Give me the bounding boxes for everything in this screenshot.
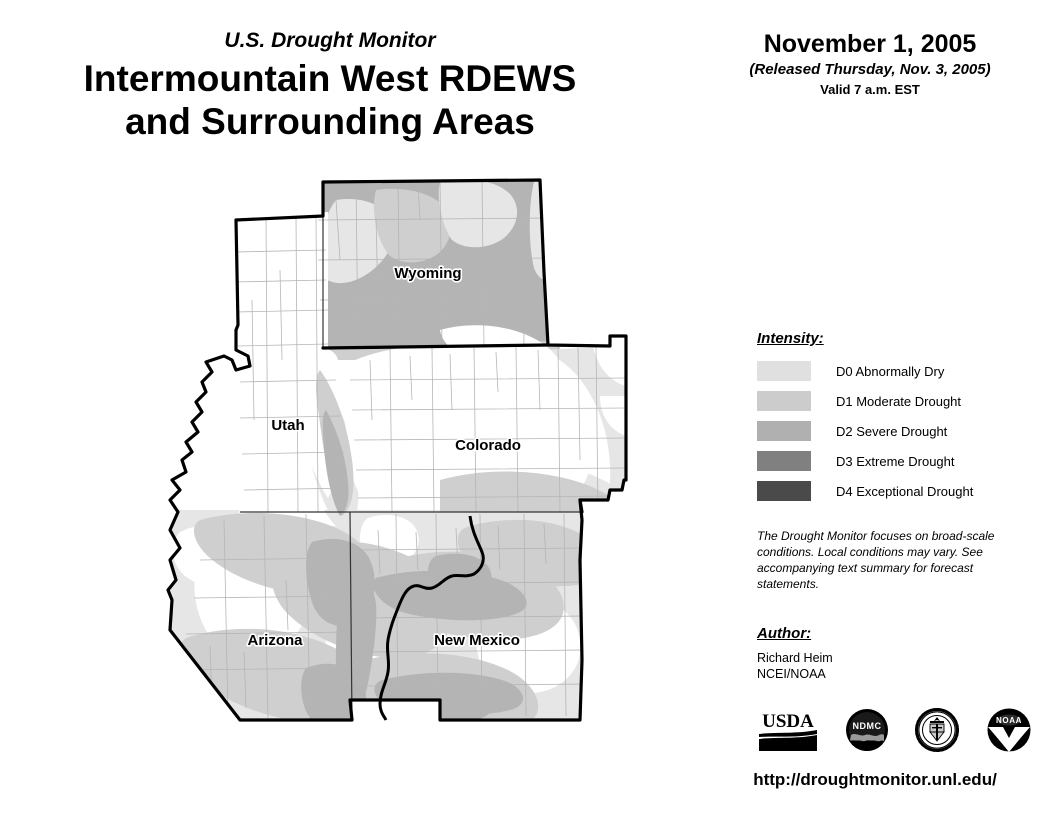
noaa-logo: NOAA	[986, 707, 1032, 758]
legend-item-d3: D3 Extreme Drought	[757, 446, 1037, 476]
page-title: Intermountain West RDEWS and Surrounding…	[0, 57, 660, 143]
legend-label-d4: D4 Exceptional Drought	[836, 484, 973, 499]
valid-time: Valid 7 a.m. EST	[700, 81, 1040, 99]
svg-text:NOAA: NOAA	[996, 716, 1022, 725]
ndmc-logo: NDMC	[845, 708, 889, 757]
legend-label-d2: D2 Severe Drought	[836, 424, 947, 439]
legend-swatch-d4	[757, 481, 811, 501]
legend-swatch-d3	[757, 451, 811, 471]
legend-title: Intensity:	[757, 330, 1037, 347]
author-block: Author: Richard Heim NCEI/NOAA	[757, 625, 1017, 682]
title-block: U.S. Drought Monitor Intermountain West …	[0, 28, 660, 143]
page-title-line1: Intermountain West RDEWS	[0, 57, 660, 100]
legend-label-d1: D1 Moderate Drought	[836, 394, 961, 409]
state-label-colorado: Colorado	[455, 437, 521, 454]
page-title-line2: and Surrounding Areas	[0, 100, 660, 143]
unl-seal-logo	[914, 707, 960, 758]
state-label-wyoming: Wyoming	[394, 265, 461, 282]
author-heading: Author:	[757, 625, 1017, 642]
legend-item-d2: D2 Severe Drought	[757, 416, 1037, 446]
legend-swatch-d0	[757, 361, 811, 381]
date-block: November 1, 2005 (Released Thursday, Nov…	[700, 30, 1040, 99]
legend-label-d0: D0 Abnormally Dry	[836, 364, 944, 379]
legend-label-d3: D3 Extreme Drought	[836, 454, 955, 469]
author-affiliation: NCEI/NOAA	[757, 666, 1017, 682]
legend-swatch-d1	[757, 391, 811, 411]
legend: Intensity: D0 Abnormally Dry D1 Moderate…	[757, 330, 1037, 506]
state-label-arizona: Arizona	[247, 632, 303, 649]
svg-text:NDMC: NDMC	[852, 721, 881, 731]
legend-item-d1: D1 Moderate Drought	[757, 386, 1037, 416]
release-date: (Released Thursday, Nov. 3, 2005)	[700, 60, 1040, 79]
state-label-utah: Utah	[271, 417, 304, 434]
author-name: Richard Heim	[757, 650, 1017, 666]
legend-item-d4: D4 Exceptional Drought	[757, 476, 1037, 506]
disclaimer-text: The Drought Monitor focuses on broad-sca…	[757, 528, 1019, 592]
program-subtitle: U.S. Drought Monitor	[0, 28, 660, 54]
svg-text:USDA: USDA	[762, 711, 814, 732]
legend-swatch-d2	[757, 421, 811, 441]
valid-date: November 1, 2005	[700, 30, 1040, 59]
legend-item-d0: D0 Abnormally Dry	[757, 356, 1037, 386]
website-url[interactable]: http://droughtmonitor.unl.edu/	[700, 770, 1050, 790]
usda-logo: USDA	[757, 707, 819, 758]
logo-row: USDA NDMC	[757, 706, 1032, 758]
state-label-newmexico: New Mexico	[434, 632, 520, 649]
drought-map[interactable]: Wyoming Utah Colorado Arizona New Mexico	[140, 160, 660, 785]
